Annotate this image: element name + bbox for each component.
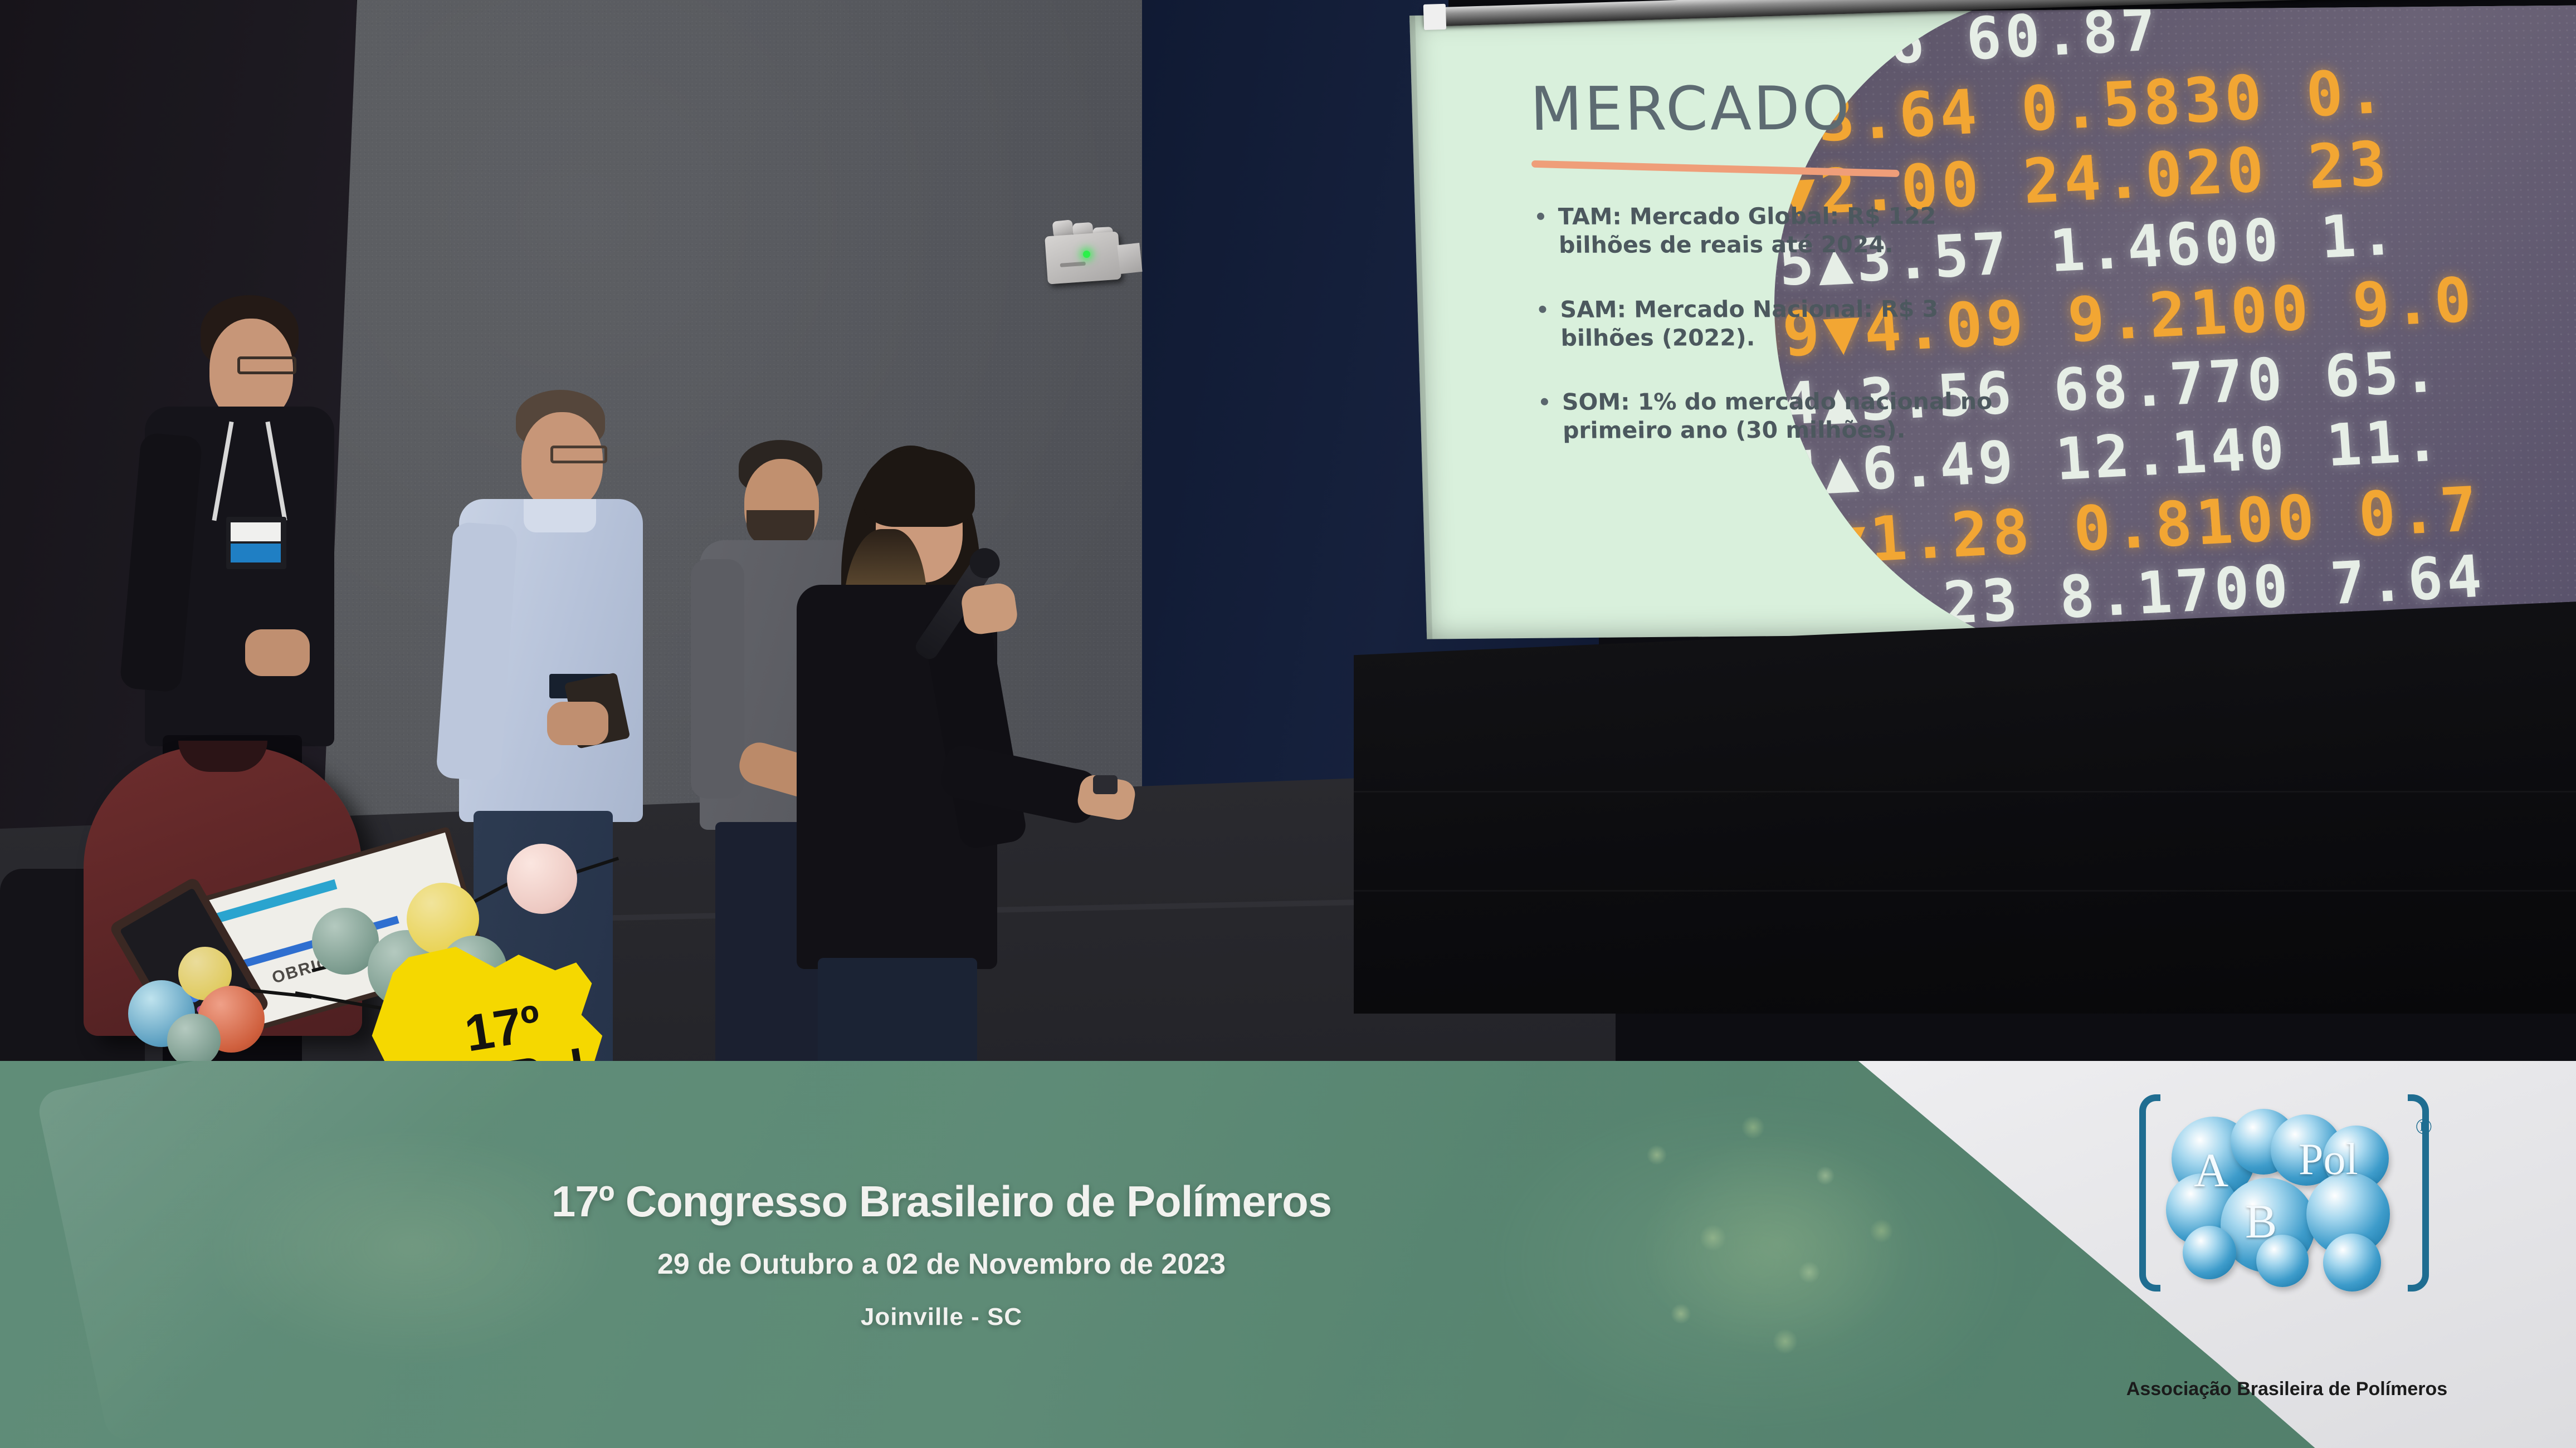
registered-trademark-icon: ® [2416, 1113, 2432, 1139]
abpol-caption: Associação Brasileira de Polímeros [2081, 1378, 2493, 1400]
slide-title: MERCADO [1530, 79, 2022, 140]
molecule-atom [167, 1014, 221, 1067]
slide-bullet: TAM: Mercado Global: R$ 122 bilhões de r… [1532, 202, 2023, 260]
slide-bullet: SOM: 1% do mercado nacional no primeiro … [1536, 387, 2027, 445]
slide-bullet-list: TAM: Mercado Global: R$ 122 bilhões de r… [1532, 202, 2027, 445]
abpol-letter-pol: Pol [2299, 1134, 2358, 1185]
slide-title-underline [1531, 160, 1899, 177]
banner-location: Joinville - SC [861, 1303, 1022, 1331]
banner-title: 17º Congresso Brasileiro de Polímeros [552, 1178, 1331, 1226]
abpol-logo: A B Pol ® [2139, 1094, 2429, 1362]
stage-black-skirt [1354, 601, 2576, 1014]
motion-sensor-icon [1041, 211, 1146, 294]
molecule-atom [507, 844, 577, 914]
presentation-clicker-icon [1093, 775, 1118, 794]
slide-bullet: SAM: Mercado Nacional: R$ 3 bilhões (202… [1534, 295, 2026, 353]
eyeglasses-icon [550, 446, 607, 463]
eyeglasses-icon [237, 356, 296, 374]
sensor-led-indicator [1083, 251, 1090, 258]
slide-content: MERCADO TAM: Mercado Global: R$ 122 bilh… [1530, 79, 2028, 481]
projected-slide: -1.56 60.87 2▼3.64 0.5830 0. 8▼2.00 24.0… [1409, 5, 2576, 639]
screenshot-root: -1.56 60.87 2▼3.64 0.5830 0. 8▼2.00 24.0… [0, 0, 2576, 1448]
event-banner: 17º Congresso Brasileiro de Polímeros 29… [0, 1061, 2576, 1448]
banner-dates: 29 de Outubro a 02 de Novembro de 2023 [657, 1248, 1226, 1281]
abpol-left-bracket [2139, 1094, 2160, 1292]
abpol-letter-a: A [2194, 1142, 2228, 1198]
abpol-letter-b: B [2245, 1193, 2277, 1249]
banner-text-block: 17º Congresso Brasileiro de Polímeros 29… [0, 1061, 1883, 1448]
conference-badge [226, 517, 286, 569]
